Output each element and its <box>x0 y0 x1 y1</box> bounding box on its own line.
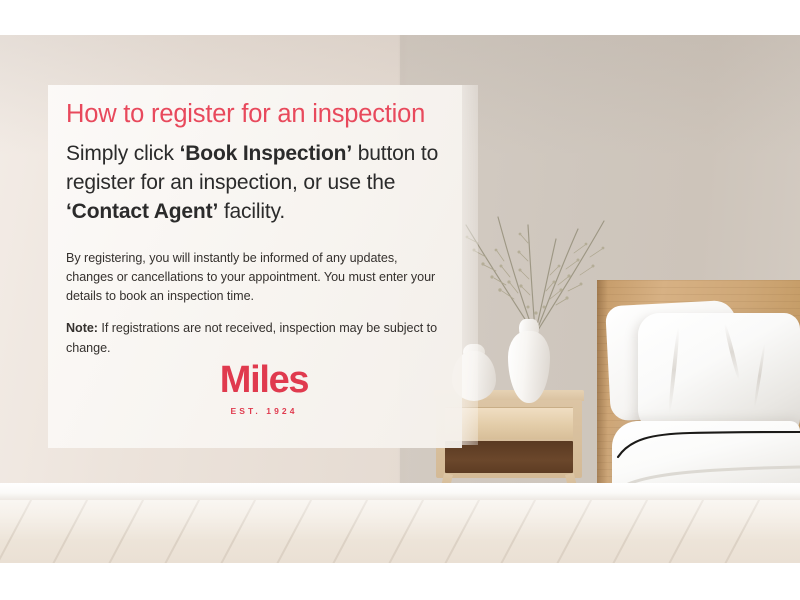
brand-established: EST. 1924 <box>66 406 462 416</box>
wood-floor <box>0 500 800 563</box>
pillow-crease <box>753 343 766 409</box>
note-paragraph: Note: If registrations are not received,… <box>66 319 442 357</box>
letterbox-top <box>0 0 800 35</box>
baseboard <box>0 483 800 501</box>
nightstand-open-shelf <box>445 441 573 473</box>
letterbox-bottom <box>0 563 800 600</box>
lede-part-1: Simply click <box>66 142 180 165</box>
pillow-main <box>638 313 800 435</box>
brand-name: Miles <box>66 361 462 399</box>
info-card: How to register for an inspection Simply… <box>48 85 462 448</box>
book-inspection-emphasis: ‘Book Inspection’ <box>180 142 352 165</box>
body-copy: By registering, you will instantly be in… <box>66 249 442 358</box>
lede-paragraph: Simply click ‘Book Inspection’ button to… <box>66 139 458 227</box>
registration-info-paragraph: By registering, you will instantly be in… <box>66 249 442 306</box>
note-text: If registrations are not received, inspe… <box>66 321 437 354</box>
contact-agent-emphasis: ‘Contact Agent’ <box>66 200 218 223</box>
brand-logo: Miles EST. 1924 <box>66 361 462 416</box>
note-label: Note: <box>66 321 98 335</box>
info-card-translucent-edge <box>462 85 478 445</box>
pillow-crease <box>668 327 681 413</box>
page-title: How to register for an inspection <box>66 99 456 130</box>
pillow-crease <box>723 323 741 380</box>
lede-part-3: facility. <box>218 200 285 223</box>
screenshot-canvas: How to register for an inspection Simply… <box>0 0 800 600</box>
